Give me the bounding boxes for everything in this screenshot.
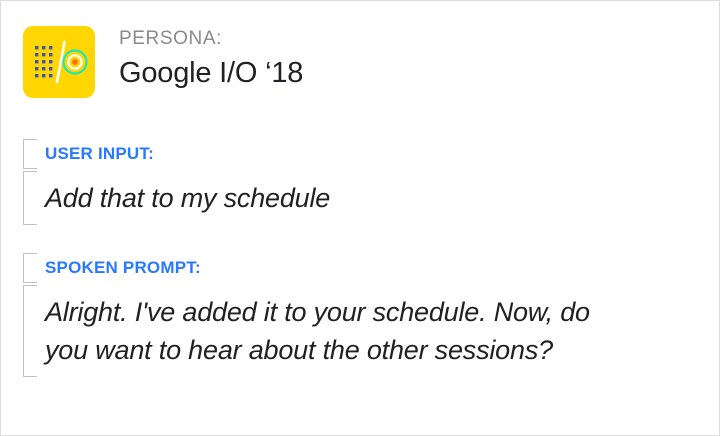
persona-title: Google I/O ‘18 [119, 55, 303, 93]
spoken-prompt-body-row: Alright. I've added it to your schedule.… [23, 285, 590, 377]
persona-dialog-card: PERSONA: Google I/O ‘18 USER INPUT: Add … [0, 0, 720, 436]
bracket-marker-icon [23, 253, 37, 283]
bracket-marker-icon [23, 171, 37, 225]
spoken-prompt-label-row: SPOKEN PROMPT: [23, 253, 590, 283]
bracket-marker-icon [23, 285, 37, 377]
user-input-text: Add that to my schedule [41, 171, 330, 225]
user-input-block: USER INPUT: Add that to my schedule [23, 139, 330, 225]
user-input-label: USER INPUT: [41, 139, 330, 169]
persona-text-group: PERSONA: Google I/O ‘18 [119, 26, 303, 92]
user-input-text-line: Add that to my schedule [45, 179, 330, 217]
persona-header: PERSONA: Google I/O ‘18 [23, 26, 303, 98]
bracket-marker-icon [23, 139, 37, 169]
spoken-prompt-text-line: you want to hear about the other session… [45, 331, 590, 369]
user-input-body-row: Add that to my schedule [23, 171, 330, 225]
spoken-prompt-text: Alright. I've added it to your schedule.… [41, 285, 590, 377]
spoken-prompt-text-line: Alright. I've added it to your schedule.… [45, 293, 590, 331]
user-input-label-row: USER INPUT: [23, 139, 330, 169]
persona-label: PERSONA: [119, 27, 303, 51]
google-io-logo-icon [23, 26, 95, 98]
spoken-prompt-block: SPOKEN PROMPT: Alright. I've added it to… [23, 253, 590, 377]
spoken-prompt-label: SPOKEN PROMPT: [41, 253, 590, 283]
